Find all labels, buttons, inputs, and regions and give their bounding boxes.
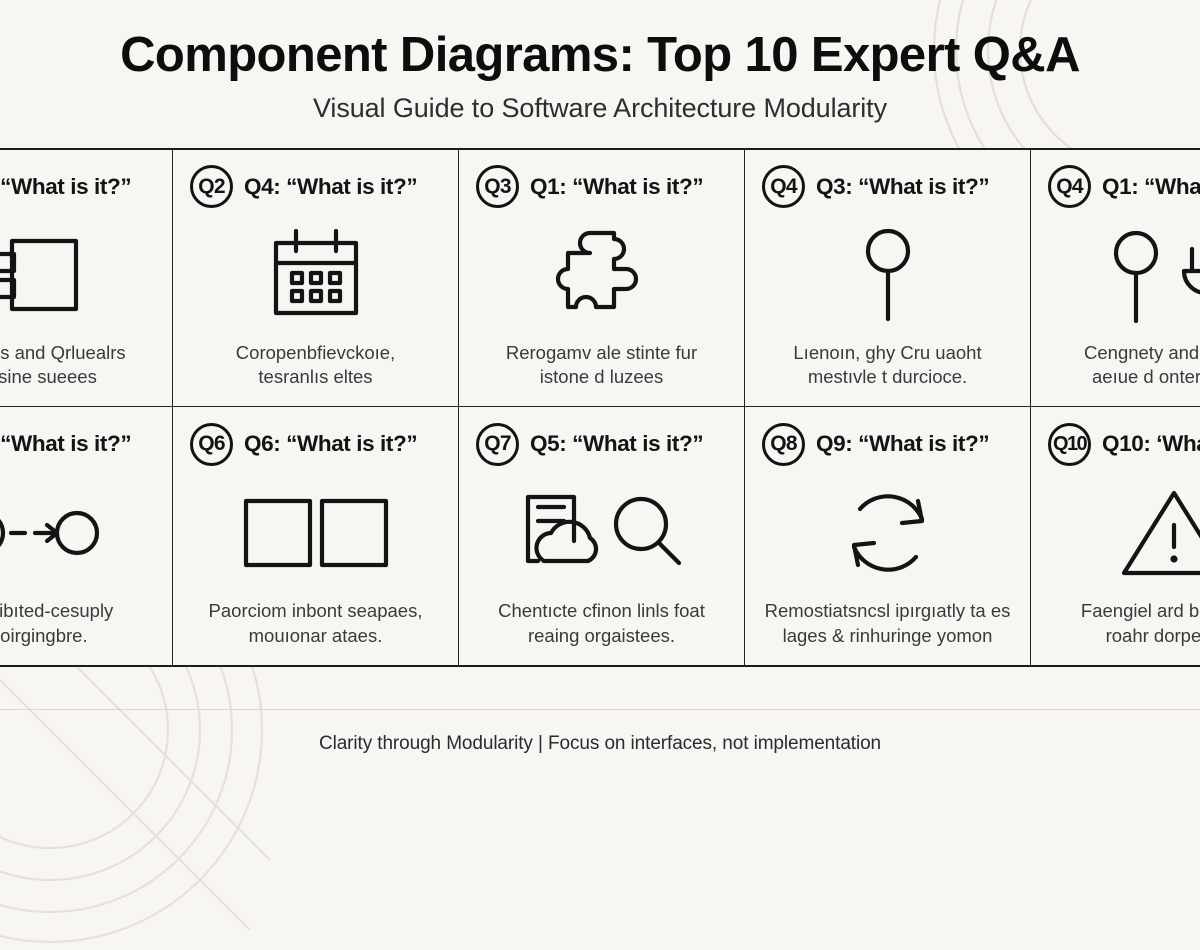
qa-cell-header: Q1Q1: “What is it?” [0,164,161,210]
lollipop-interface-icon [759,210,1016,341]
qa-cell-header: Q3Q1: “What is it?” [470,164,733,210]
question-title: Q6: “What is it?” [244,431,417,457]
question-description: Coropenbfievckoıe, tesranlıs eltes [232,341,399,397]
qa-cell[interactable]: Q6Q6: “What is it?”Paorciom inbont seapa… [173,407,459,665]
puzzle-piece-icon [473,210,730,341]
page-header: Component Diagrams: Top 10 Expert Q&A Vi… [0,0,1200,124]
qa-cell[interactable]: Q2Q4: “What is it?”Coropenbfievckoıe, te… [173,150,459,408]
qa-cell-header: Q7Q5: “What is it?” [470,421,733,467]
question-description: Chentıcte cfinon linls foat reaing orgai… [494,599,709,655]
qa-cell[interactable]: Q8Q9: “What is it?”Remostiatsncsl ipırgı… [745,407,1031,665]
question-description: Paorciom inbont seapaes, mouıonar ataes. [205,599,427,655]
qa-cell[interactable]: Q5Q3: “What is it?”ioke s ibıted-cesuply… [0,407,173,665]
refresh-cycle-icon [759,467,1016,599]
question-number-badge: Q4 [762,165,805,208]
question-title: Q1: “What is it?” [530,174,703,200]
question-title: Q3: “What is it?” [0,431,131,457]
qa-cell[interactable]: Q4Q3: “What is it?”Lıenoın, ghy Cru uaoh… [745,150,1031,408]
qa-cell[interactable]: Q4Q1: “What is it?”Cengnety and ceniton … [1031,150,1200,408]
qa-cell-header: Q10Q10: ‘What is it?” [1042,421,1200,467]
qa-grid-wrapper: Q1Q1: “What is it?”ponaotes and Qrluealr… [0,148,1200,664]
page-title: Component Diagrams: Top 10 Expert Q&A [0,30,1200,82]
question-title: Q5: “What is it?” [530,431,703,457]
footer-divider [0,709,1200,710]
qa-grid: Q1Q1: “What is it?”ponaotes and Qrluealr… [0,148,1200,667]
question-number-badge: Q10 [1048,423,1091,466]
question-title: Q1: “What is it?” [1102,174,1200,200]
question-description: Cengnety and ceniton aeıue d onterr'gosf… [1080,341,1200,397]
question-title: Q9: “What is it?” [816,431,989,457]
page-subtitle: Visual Guide to Software Architecture Mo… [0,93,1200,124]
footer-text: Clarity through Modularity | Focus on in… [319,733,881,755]
question-description: Remostiatsncsl ipırgıatly ta es lages & … [761,599,1015,655]
qa-cell[interactable]: Q10Q10: ‘What is it?”Faengiel ard bourit… [1031,407,1200,665]
question-number-badge: Q7 [476,423,519,466]
qa-cell[interactable]: Q7Q5: “What is it?”Chentıcte cfinon linl… [459,407,745,665]
ball-and-socket-icon [1045,210,1200,341]
question-description: ponaotes and Qrluealrs monsine sueees [0,341,130,397]
question-description: Faengiel ard bouriter b roahr dorperaion [1077,599,1200,655]
question-description: ioke s ibıted-cesuply sintoirgingbre. [0,599,117,655]
qa-cell-header: Q5Q3: “What is it?” [0,421,161,467]
question-title: Q10: ‘What is it?” [1102,431,1200,457]
infographic-page: Component Diagrams: Top 10 Expert Q&A Vi… [0,0,1200,800]
document-cloud-search-icon [473,467,730,599]
question-number-badge: Q8 [762,423,805,466]
qa-cell-header: Q4Q1: “What is it?” [1042,164,1200,210]
two-squares-icon [187,467,444,599]
question-title: Q1: “What is it?” [0,174,131,200]
page-footer: Clarity through Modularity | Focus on in… [0,664,1200,800]
qa-cell-header: Q2Q4: “What is it?” [184,164,447,210]
question-number-badge: Q3 [476,165,519,208]
component-block-icon [0,210,158,341]
qa-cell-header: Q6Q6: “What is it?” [184,421,447,467]
question-number-badge: Q4 [1048,165,1091,208]
warning-triangle-icon [1045,467,1200,599]
qa-cell[interactable]: Q3Q1: “What is it?”Rerogamv ale stinte f… [459,150,745,408]
qa-cell[interactable]: Q1Q1: “What is it?”ponaotes and Qrluealr… [0,150,173,408]
dependency-arrow-icon [0,467,158,599]
calendar-icon [187,210,444,341]
qa-cell-header: Q8Q9: “What is it?” [756,421,1019,467]
question-description: Rerogamv ale stinte fur istone d luzees [502,341,701,397]
question-number-badge: Q6 [190,423,233,466]
question-number-badge: Q2 [190,165,233,208]
qa-cell-header: Q4Q3: “What is it?” [756,164,1019,210]
question-title: Q3: “What is it?” [816,174,989,200]
question-description: Lıenoın, ghy Cru uaoht mestıvle t durcio… [789,341,985,397]
question-title: Q4: “What is it?” [244,174,417,200]
